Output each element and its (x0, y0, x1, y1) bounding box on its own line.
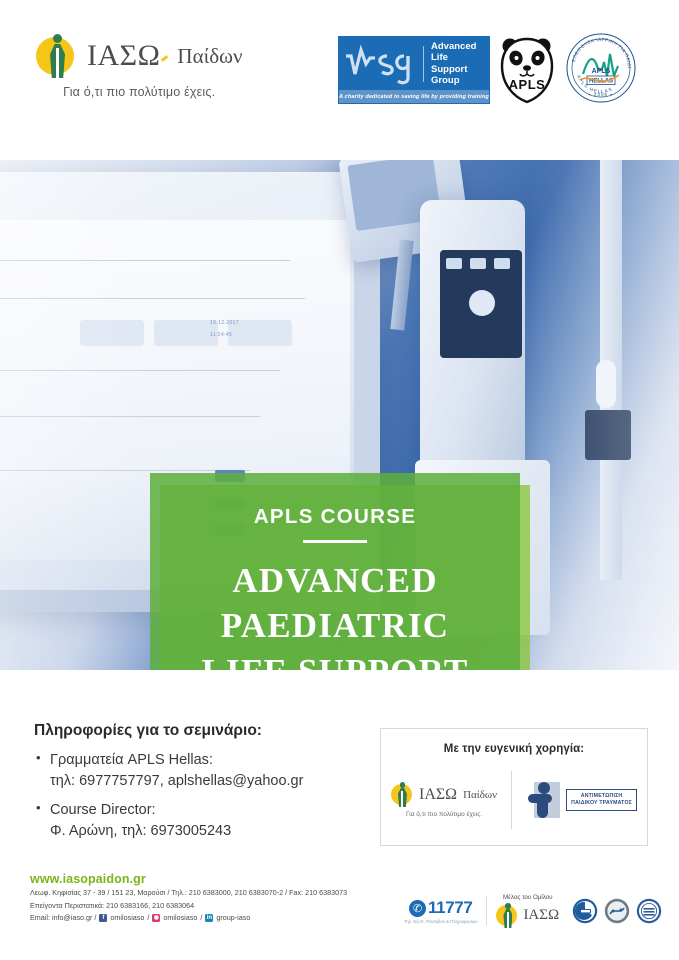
alsg-line-support: Support (431, 64, 489, 75)
sponsors-title: Με την ευγενική χορηγία: (444, 743, 584, 755)
footer-contact-block: Λεωφ. Κηφισίας 37 - 39 / 151 23, Μαρούσι… (30, 887, 347, 925)
iaso-wordmark: ΙΑΣΩ (87, 41, 160, 71)
footer-logo-row: 11777 Τηλ. Εξυπ. Ραντεβού & Πληροφοριών … (404, 884, 666, 938)
linkedin-icon[interactable]: in (205, 914, 213, 922)
alsg-line-group: Group (431, 75, 489, 86)
info-heading: Πληροφορίες για το σεμινάριο: (34, 722, 364, 740)
instagram-handle[interactable]: omilosiaso (163, 912, 197, 925)
course-title: ADVANCED PAEDIATRIC LIFE SUPPORT COURSE (202, 558, 469, 671)
sponsor-iaso-tagline: Για ό,τι πιο πολύτιμο έχεις. (406, 811, 482, 818)
iaso-figure-icon (36, 34, 80, 78)
hero-section: 19.12.2017 11:24:45 APLS COURSE ADVANCED… (0, 160, 679, 670)
iaso-tagline: Για ό,τι πιο πολύτιμο έχεις. (63, 85, 215, 99)
member-brand: ΙΑΣΩ (523, 907, 559, 924)
iaso-logo-row: ΙΑΣΩ Παίδων (36, 34, 242, 78)
certification-seal-icon-2 (604, 898, 630, 924)
course-panel: APLS COURSE ADVANCED PAEDIATRIC LIFE SUP… (150, 473, 520, 670)
info-list: Γραμματεία APLS Hellas: τηλ: 6977757797,… (34, 750, 364, 841)
instagram-icon[interactable]: ◉ (152, 914, 160, 922)
alsg-logo: Advanced Life Support Group A charity de… (338, 36, 490, 104)
iaso-figure-icon (391, 782, 415, 807)
trauma-line-1: ΑΝΤΙΜΕΤΩΠΙΣΗ (571, 793, 632, 800)
seminar-info-section: Πληροφορίες για το σεμινάριο: Γραμματεία… (34, 722, 364, 850)
certification-seal-icon-1 (572, 898, 598, 924)
list-item: Γραμματεία APLS Hellas: τηλ: 6977757797,… (34, 750, 364, 791)
trauma-figure-icon (526, 780, 562, 820)
course-kicker: APLS COURSE (254, 505, 416, 529)
course-title-line-3: LIFE SUPPORT (202, 649, 469, 671)
iaso-suffix: Παίδων (177, 44, 242, 69)
alsg-line-advanced: Advanced (431, 41, 489, 52)
iaso-paidon-logo: ΙΑΣΩ Παίδων Για ό,τι πιο πολύτιμο έχεις. (36, 34, 242, 99)
certification-seal-icon-3 (636, 898, 662, 924)
info-item-1-line2: Φ. Αρώνη, τηλ: 6973005243 (50, 823, 231, 839)
course-title-line-2: PAEDIATRIC (202, 603, 469, 649)
sponsor-iaso-suffix: Παίδων (463, 789, 497, 801)
iaso-figure-icon (496, 903, 520, 928)
footer-address: Λεωφ. Κηφισίας 37 - 39 / 151 23, Μαρούσι… (30, 887, 347, 900)
svg-text:APLS: APLS (509, 77, 546, 92)
svg-text:• 2005 •: • 2005 • (589, 92, 613, 97)
member-label: Μέλος του Ομίλου (503, 894, 553, 901)
facebook-icon[interactable]: f (99, 914, 107, 922)
sponsor-iaso-wordmark: ΙΑΣΩ (419, 786, 457, 804)
certification-seals (572, 898, 662, 924)
info-item-0-line1: Γραμματεία APLS Hellas: (50, 752, 213, 768)
kicker-divider (303, 540, 367, 543)
sponsor-iaso-paidon-logo: ΙΑΣΩ Παίδων Για ό,τι πιο πολύτιμο έχεις. (391, 782, 497, 818)
phone-icon (409, 900, 426, 917)
sponsors-box: Με την ευγενική χορηγία: ΙΑΣΩ Παίδων Για… (380, 728, 648, 846)
hotline-logo: 11777 Τηλ. Εξυπ. Ραντεβού & Πληροφοριών (404, 898, 477, 924)
alsg-glyph-icon (339, 37, 423, 90)
alsg-line-life: Life (431, 52, 489, 63)
footer-email[interactable]: Email: info@iaso.gr / (30, 912, 96, 925)
apls-panda-icon: APLS (497, 36, 557, 104)
info-item-0-line2: τηλ: 6977757797, aplshellas@yahoo.gr (50, 773, 303, 789)
facebook-handle[interactable]: omilosiaso (110, 912, 144, 925)
apls-hellas-seal-icon: ΕΠΕΙΓΟΥΣΑ ΙΑΤΡΙΚΗ ΓΙΑ ΠΑΙΔΙΑ APLS HELLAS… (565, 32, 637, 104)
linkedin-handle[interactable]: group-iaso (216, 912, 250, 925)
svg-text:APLS: APLS (592, 68, 611, 75)
info-item-1-line1: Course Director: (50, 802, 156, 818)
footer-divider (486, 896, 487, 926)
social-sep-1: / (147, 912, 149, 925)
alsg-strapline: A charity dedicated to saving life by pr… (339, 90, 489, 103)
trauma-line-2: ΠΑΙΔΙΚΟΥ ΤΡΑΥΜΑΤΟΣ (571, 800, 632, 807)
poster-header: ΙΑΣΩ Παίδων Για ό,τι πιο πολύτιμο έχεις. (0, 0, 679, 160)
social-sep-2: / (200, 912, 202, 925)
group-member-logo: Μέλος του Ομίλου ΙΑΣΩ (496, 894, 559, 928)
sponsors-logo-row: ΙΑΣΩ Παίδων Για ό,τι πιο πολύτιμο έχεις.… (391, 771, 637, 829)
footer-emergency: Επείγοντα Περιστατικά: 210 6383166, 210 … (30, 900, 347, 913)
footer-social-row: Email: info@iaso.gr / f omilosiaso / ◉ o… (30, 912, 347, 925)
hotline-subtitle: Τηλ. Εξυπ. Ραντεβού & Πληροφοριών (404, 919, 477, 924)
sponsor-divider (511, 771, 512, 829)
course-title-line-1: ADVANCED (202, 558, 469, 604)
sponsor-trauma-logo: ΑΝΤΙΜΕΤΩΠΙΣΗ ΠΑΙΔΙΚΟΥ ΤΡΑΥΜΑΤΟΣ (526, 780, 637, 820)
website-url[interactable]: www.iasopaidon.gr (30, 872, 146, 886)
hotline-number: 11777 (428, 898, 472, 918)
list-item: Course Director: Φ. Αρώνη, τηλ: 69730052… (34, 800, 364, 841)
